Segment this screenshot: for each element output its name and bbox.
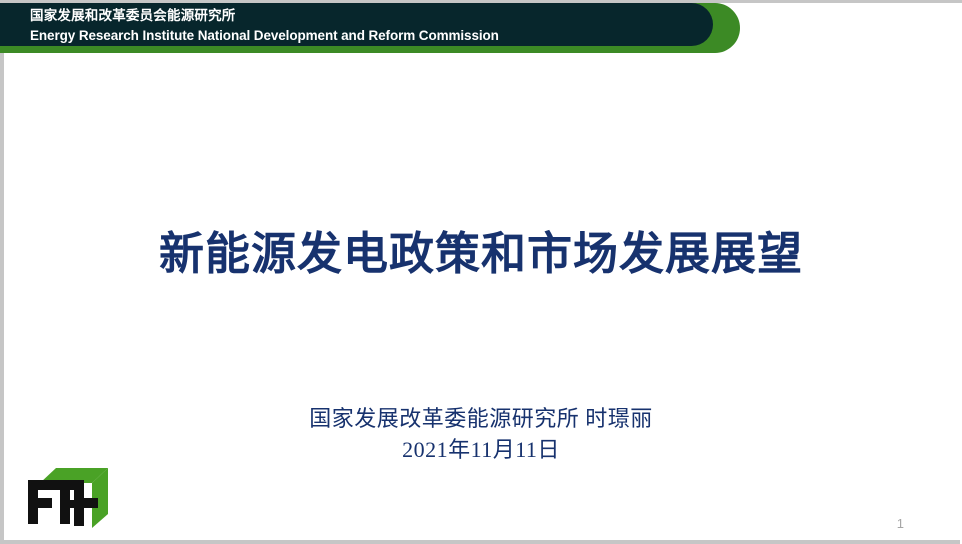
- header-banner: 国家发展和改革委员会能源研究所 Energy Research Institut…: [0, 3, 760, 55]
- subtitle-author: 国家发展改革委能源研究所 时璟丽: [0, 403, 962, 434]
- eri-logo: [26, 468, 118, 530]
- slide-canvas: 国家发展和改革委员会能源研究所 Energy Research Institut…: [0, 0, 962, 544]
- page-number: 1: [897, 516, 904, 531]
- header-org-name-cn: 国家发展和改革委员会能源研究所: [30, 7, 499, 24]
- slide-border-bottom: [0, 540, 962, 544]
- eri-logo-icon: [26, 468, 118, 530]
- header-text-block: 国家发展和改革委员会能源研究所 Energy Research Institut…: [30, 7, 499, 45]
- subtitle-date: 2021年11月11日: [0, 434, 962, 465]
- slide-title: 新能源发电政策和市场发展展望: [0, 228, 962, 280]
- slide-subtitle-block: 国家发展改革委能源研究所 时璟丽 2021年11月11日: [0, 403, 962, 465]
- slide-border-left: [0, 52, 4, 544]
- header-org-name-en: Energy Research Institute National Devel…: [30, 27, 499, 44]
